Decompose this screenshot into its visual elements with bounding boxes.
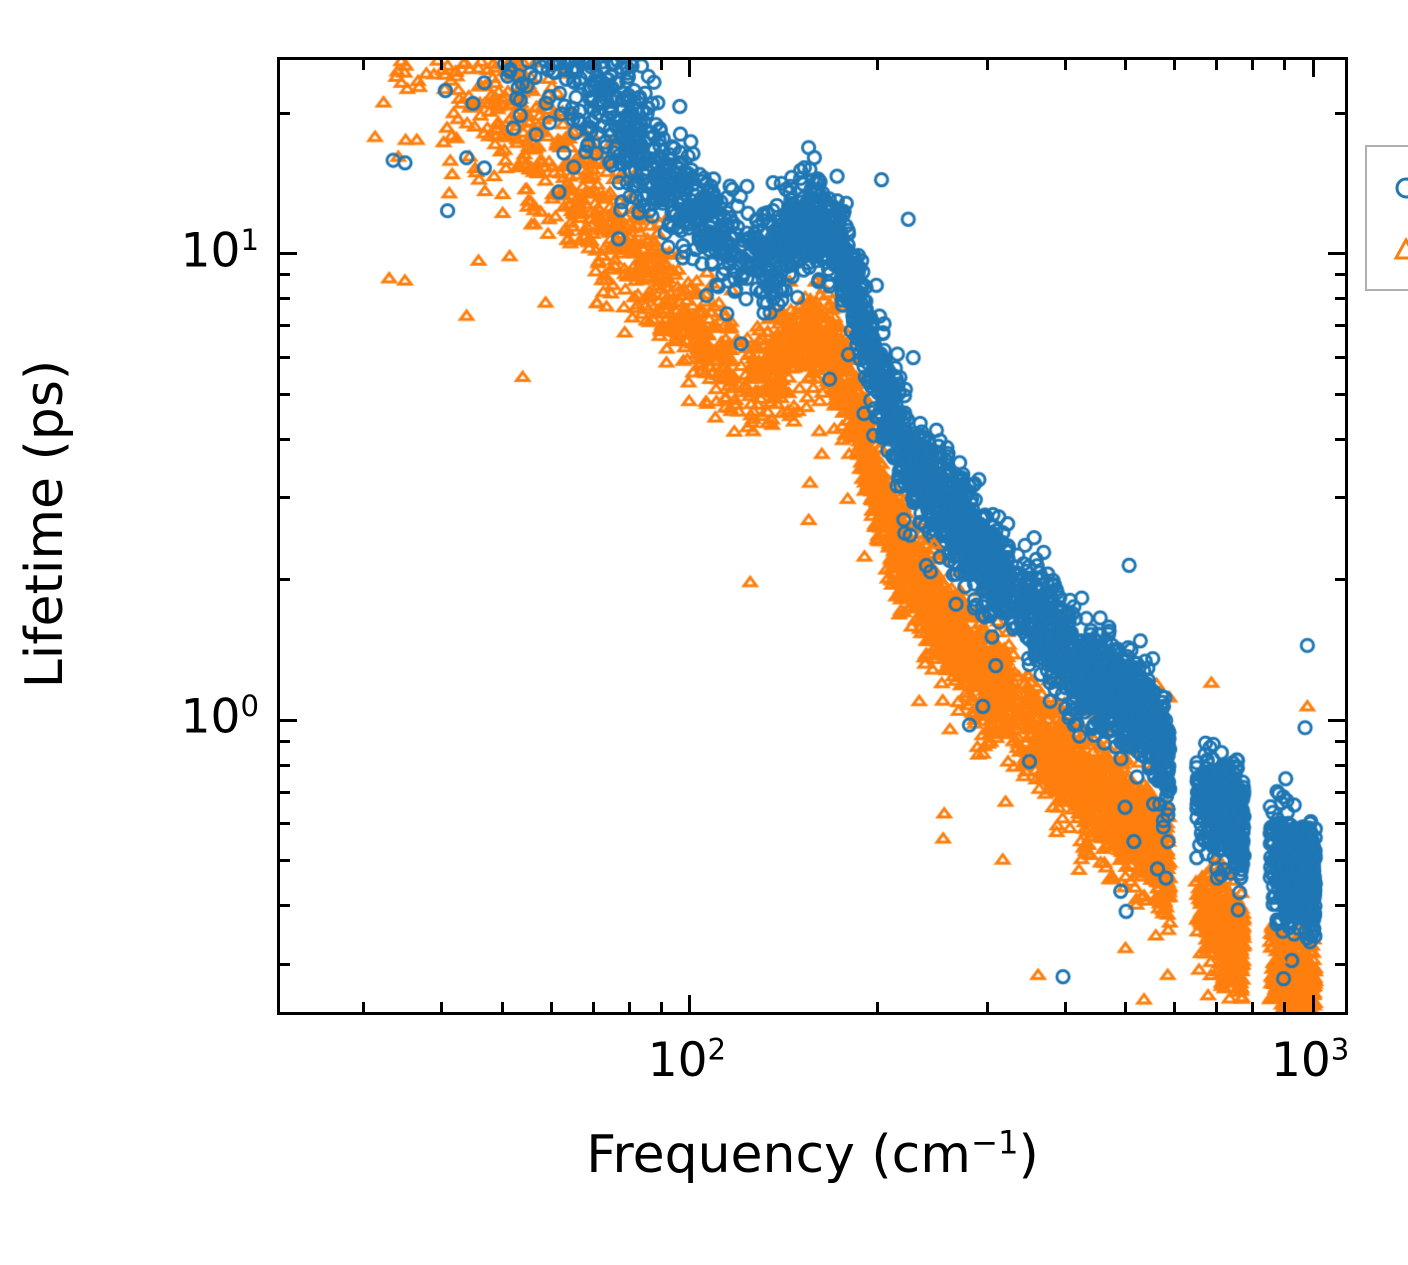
y-tick-major-right [1328, 719, 1345, 722]
y-tick-minor [280, 791, 290, 794]
y-tick-minor-right [1335, 393, 1345, 396]
legend-entry-500k[interactable]: 500K [1367, 221, 1408, 279]
x-tick-minor-top [1283, 60, 1286, 70]
y-tick-minor [280, 112, 290, 115]
x-tick-minor [1124, 1002, 1127, 1012]
y-tick-minor [280, 822, 290, 825]
y-tick-major [280, 252, 297, 255]
x-tick-minor-top [628, 60, 631, 70]
x-tick-minor [1064, 1002, 1067, 1012]
y-tick-minor-right [1335, 764, 1345, 767]
x-tick-minor [501, 1002, 504, 1012]
figure-canvas: 300K 500K 102103101100 Frequency (cm−1) … [0, 0, 1408, 1265]
y-tick-label: 100 [181, 694, 259, 741]
x-tick-minor-top [501, 60, 504, 70]
legend-entry-300k[interactable]: 300K [1367, 159, 1408, 217]
x-tick-minor [362, 1002, 365, 1012]
y-tick-minor [280, 393, 290, 396]
x-tick-major [1312, 995, 1315, 1012]
x-tick-minor [876, 1002, 879, 1012]
x-tick-minor [1251, 1002, 1254, 1012]
legend-box[interactable]: 300K 500K [1365, 145, 1408, 291]
y-tick-minor [280, 496, 290, 499]
x-tick-label: 103 [1271, 1037, 1349, 1084]
y-tick-minor-right [1335, 496, 1345, 499]
x-tick-major-top [688, 60, 691, 77]
y-tick-minor-right [1335, 904, 1345, 907]
x-tick-major-top [1312, 60, 1315, 77]
y-tick-minor [280, 297, 290, 300]
y-tick-minor [280, 356, 290, 359]
y-tick-minor [280, 438, 290, 441]
y-tick-minor [280, 963, 290, 966]
y-tick-minor-right [1335, 791, 1345, 794]
x-tick-minor-top [986, 60, 989, 70]
legend-marker-triangle-icon [1367, 235, 1408, 265]
y-tick-minor-right [1335, 273, 1345, 276]
x-tick-minor-top [362, 60, 365, 70]
x-tick-minor [660, 1002, 663, 1012]
y-tick-minor-right [1335, 356, 1345, 359]
x-tick-minor-top [660, 60, 663, 70]
x-tick-minor-top [440, 60, 443, 70]
x-tick-minor-top [1064, 60, 1067, 70]
x-tick-minor-top [1251, 60, 1254, 70]
y-tick-minor [280, 578, 290, 581]
legend-marker-circle-icon [1367, 173, 1408, 203]
x-tick-minor-top [1173, 60, 1176, 70]
y-tick-minor [280, 273, 290, 276]
y-axis-label: Lifetime (ps) [0, 45, 90, 1003]
x-tick-minor [1215, 1002, 1218, 1012]
y-tick-minor [280, 324, 290, 327]
x-tick-minor-top [876, 60, 879, 70]
y-tick-minor-right [1335, 740, 1345, 743]
scatter-plot-canvas [280, 60, 1345, 1012]
y-tick-minor-right [1335, 324, 1345, 327]
y-tick-minor-right [1335, 112, 1345, 115]
x-tick-minor [986, 1002, 989, 1012]
y-tick-major [280, 719, 297, 722]
x-tick-minor-top [592, 60, 595, 70]
y-tick-minor-right [1335, 859, 1345, 862]
x-tick-minor-top [1124, 60, 1127, 70]
y-tick-minor-right [1335, 297, 1345, 300]
y-tick-label: 101 [181, 227, 259, 274]
y-tick-minor-right [1335, 822, 1345, 825]
x-tick-minor-top [550, 60, 553, 70]
x-axis-label: Frequency (cm−1) [277, 1125, 1348, 1185]
y-tick-minor [280, 740, 290, 743]
x-tick-minor [1283, 1002, 1286, 1012]
x-tick-minor [550, 1002, 553, 1012]
x-tick-minor [628, 1002, 631, 1012]
x-tick-major [688, 995, 691, 1012]
y-tick-minor-right [1335, 578, 1345, 581]
y-tick-minor-right [1335, 963, 1345, 966]
x-tick-label: 102 [648, 1037, 726, 1084]
y-tick-minor [280, 904, 290, 907]
y-tick-minor [280, 859, 290, 862]
x-tick-minor [592, 1002, 595, 1012]
x-tick-minor [440, 1002, 443, 1012]
x-tick-minor-top [1215, 60, 1218, 70]
x-tick-minor [1173, 1002, 1176, 1012]
plot-axes: 300K 500K [277, 57, 1348, 1015]
y-tick-major-right [1328, 252, 1345, 255]
y-tick-minor-right [1335, 438, 1345, 441]
y-tick-minor [280, 764, 290, 767]
